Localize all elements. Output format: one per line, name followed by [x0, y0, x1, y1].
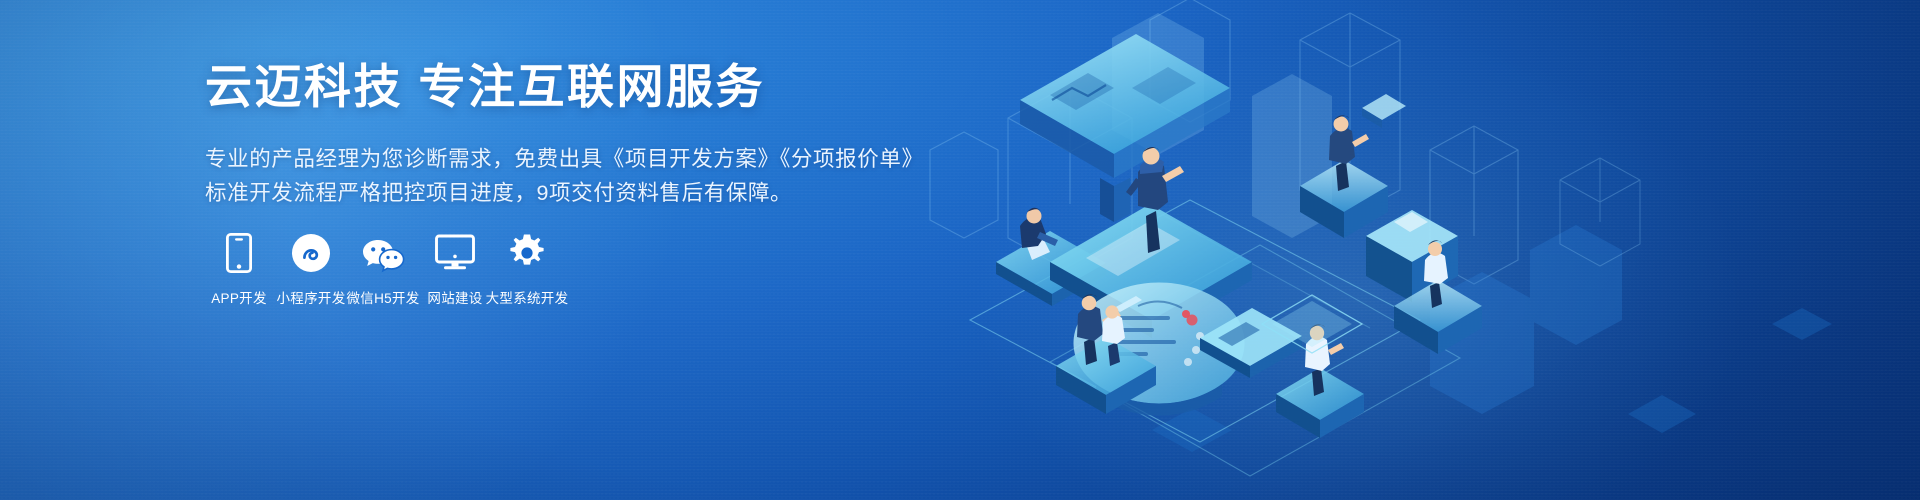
service-item-large-system[interactable]: 大型系统开发 — [491, 232, 563, 307]
service-list: APP开发 小程序开发 — [203, 232, 563, 307]
service-item-wechat-h5[interactable]: 微信H5开发 — [347, 232, 419, 307]
mini-program-icon — [291, 232, 331, 274]
service-label: 大型系统开发 — [486, 287, 569, 307]
wechat-icon — [361, 232, 405, 274]
mobile-phone-icon — [226, 232, 252, 274]
service-label: 网站建设 — [427, 287, 482, 307]
gear-icon — [508, 232, 546, 274]
isometric-illustration — [900, 0, 1540, 500]
person-on-stair-block — [1300, 94, 1406, 238]
service-label: APP开发 — [211, 287, 267, 307]
service-item-mini-program[interactable]: 小程序开发 — [275, 232, 347, 307]
hero-text-column: 云迈科技 专注互联网服务 专业的产品经理为您诊断需求，免费出具《项目开发方案》《… — [205, 62, 965, 210]
service-item-website[interactable]: 网站建设 — [419, 232, 491, 307]
service-label: 小程序开发 — [277, 287, 346, 307]
page-title: 云迈科技 专注互联网服务 — [205, 62, 965, 113]
monitor-icon — [435, 232, 475, 274]
service-label: 微信H5开发 — [346, 287, 419, 307]
accent-dot — [1182, 310, 1190, 318]
subtitle-line-2: 标准开发流程严格把控项目进度，9项交付资料售后有保障。 — [205, 176, 965, 210]
hero-banner: 云迈科技 专注互联网服务 专业的产品经理为您诊断需求，免费出具《项目开发方案》《… — [0, 0, 1920, 500]
subtitle-line-1: 专业的产品经理为您诊断需求，免费出具《项目开发方案》《分项报价单》 — [205, 142, 965, 176]
dashboard-screen — [1020, 0, 1230, 222]
service-item-app[interactable]: APP开发 — [203, 232, 275, 307]
subtitle-block: 专业的产品经理为您诊断需求，免费出具《项目开发方案》《分项报价单》 标准开发流程… — [205, 142, 965, 210]
